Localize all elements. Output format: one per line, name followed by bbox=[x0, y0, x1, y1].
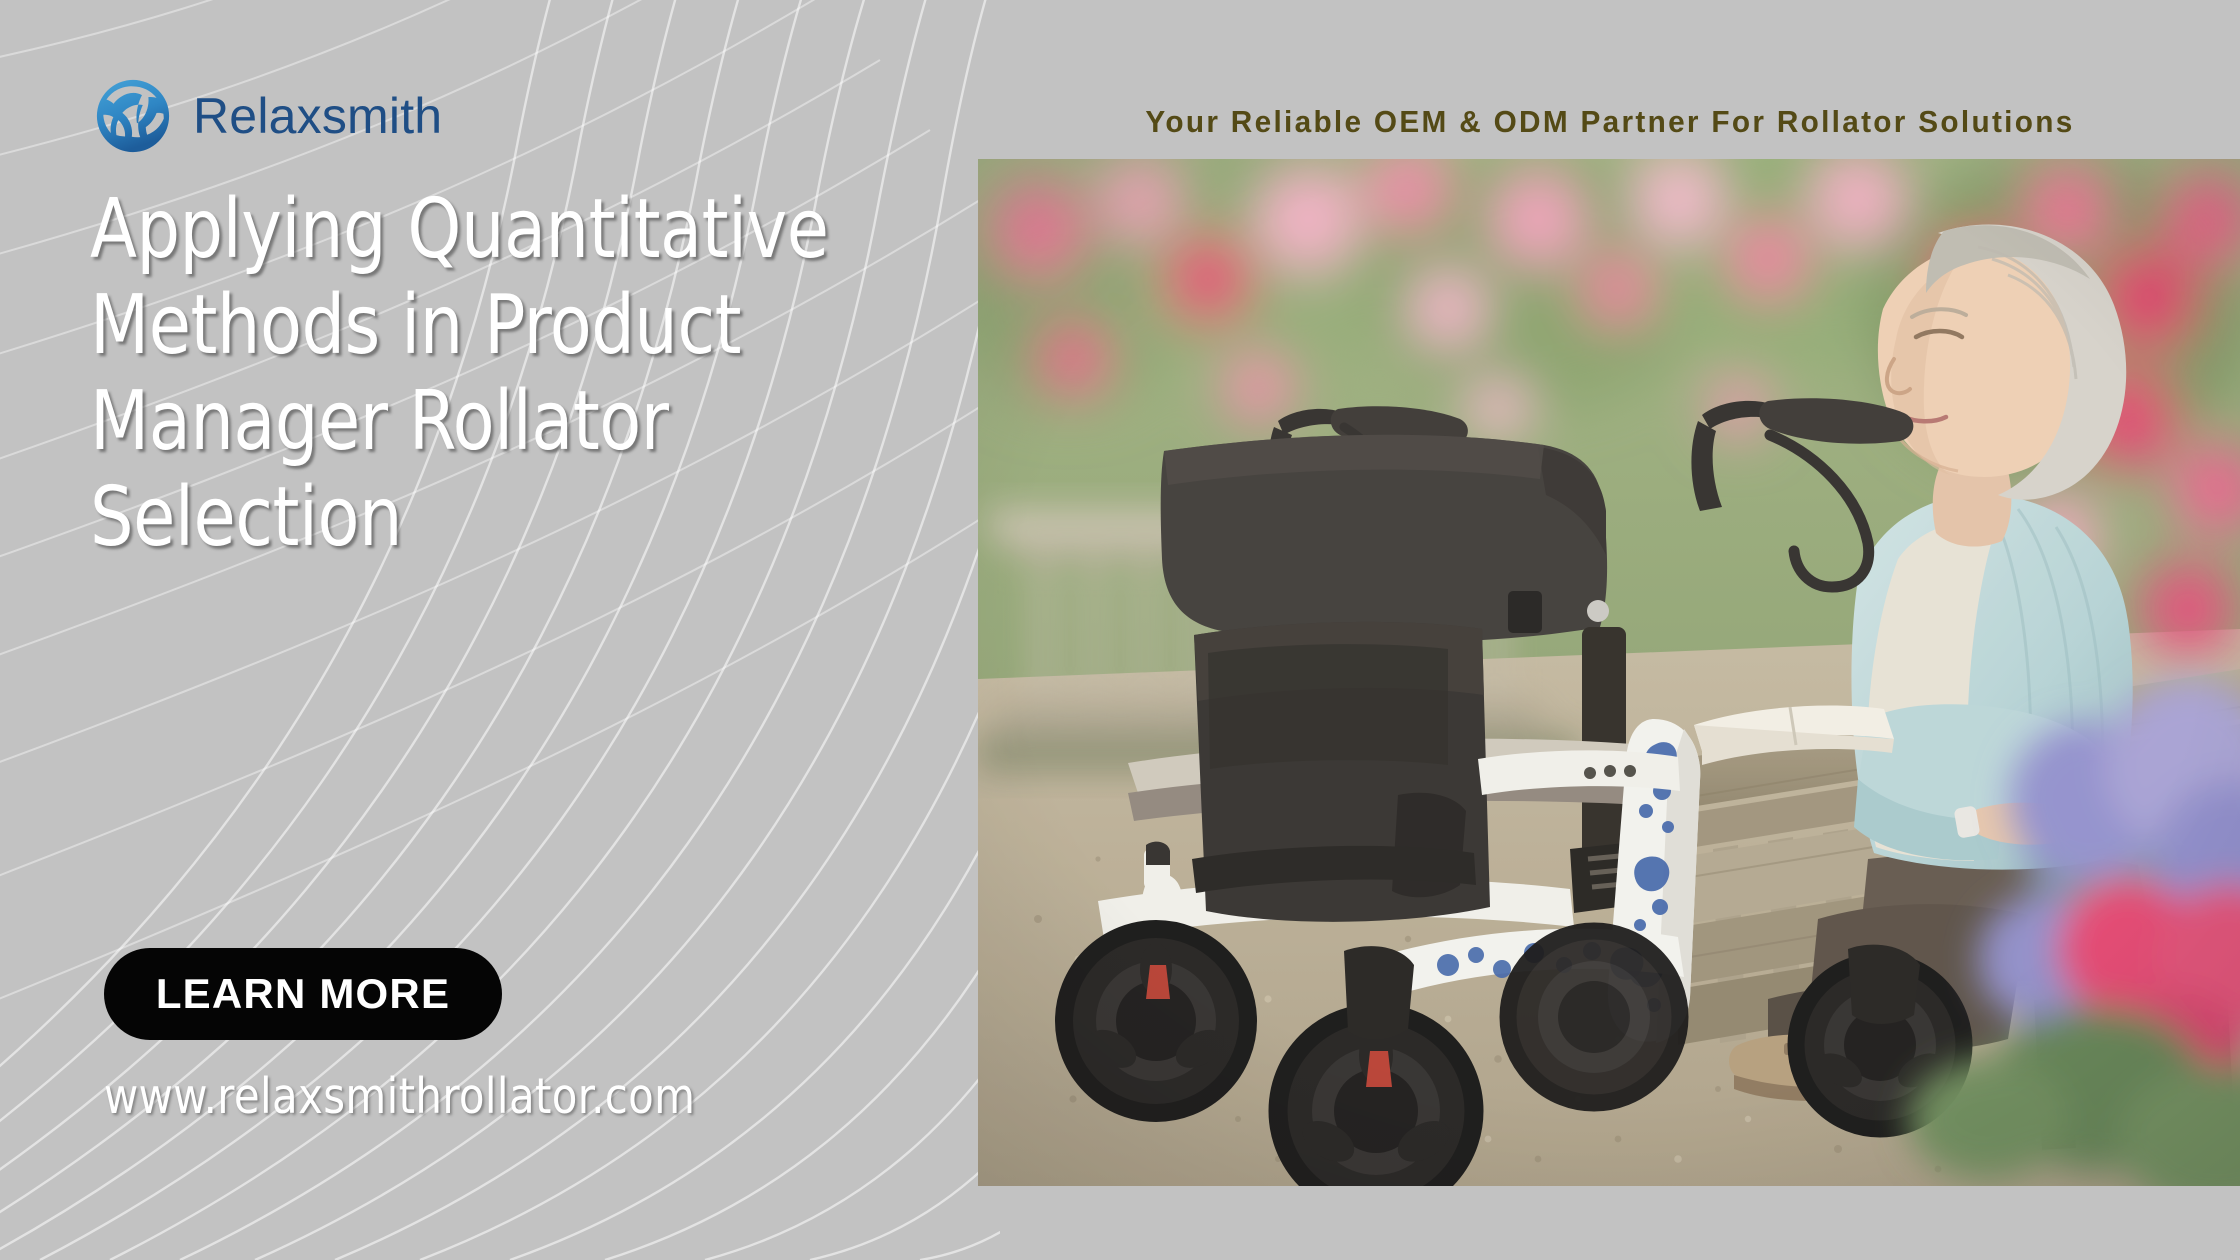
left-content-column: Relaxsmith Applying Quantitative Methods… bbox=[0, 0, 980, 1260]
hero-photo bbox=[978, 159, 2240, 1186]
headline-line-1: Applying Quantitative bbox=[90, 182, 908, 278]
brand-lockup[interactable]: Relaxsmith bbox=[95, 78, 442, 154]
page-title: Applying Quantitative Methods in Product… bbox=[90, 182, 908, 566]
brand-name: Relaxsmith bbox=[193, 91, 442, 141]
headline-line-3: Manager Rollator bbox=[90, 374, 908, 470]
promo-banner: Relaxsmith Applying Quantitative Methods… bbox=[0, 0, 2240, 1260]
headline-line-4: Selection bbox=[90, 470, 908, 566]
learn-more-button[interactable]: LEARN MORE bbox=[104, 948, 502, 1040]
tagline: Your Reliable OEM & ODM Partner For Roll… bbox=[1005, 104, 2215, 140]
relaxsmith-logo-icon bbox=[95, 78, 171, 154]
headline-line-2: Methods in Product bbox=[90, 278, 908, 374]
website-url[interactable]: www.relaxsmithrollator.com bbox=[104, 1068, 695, 1125]
